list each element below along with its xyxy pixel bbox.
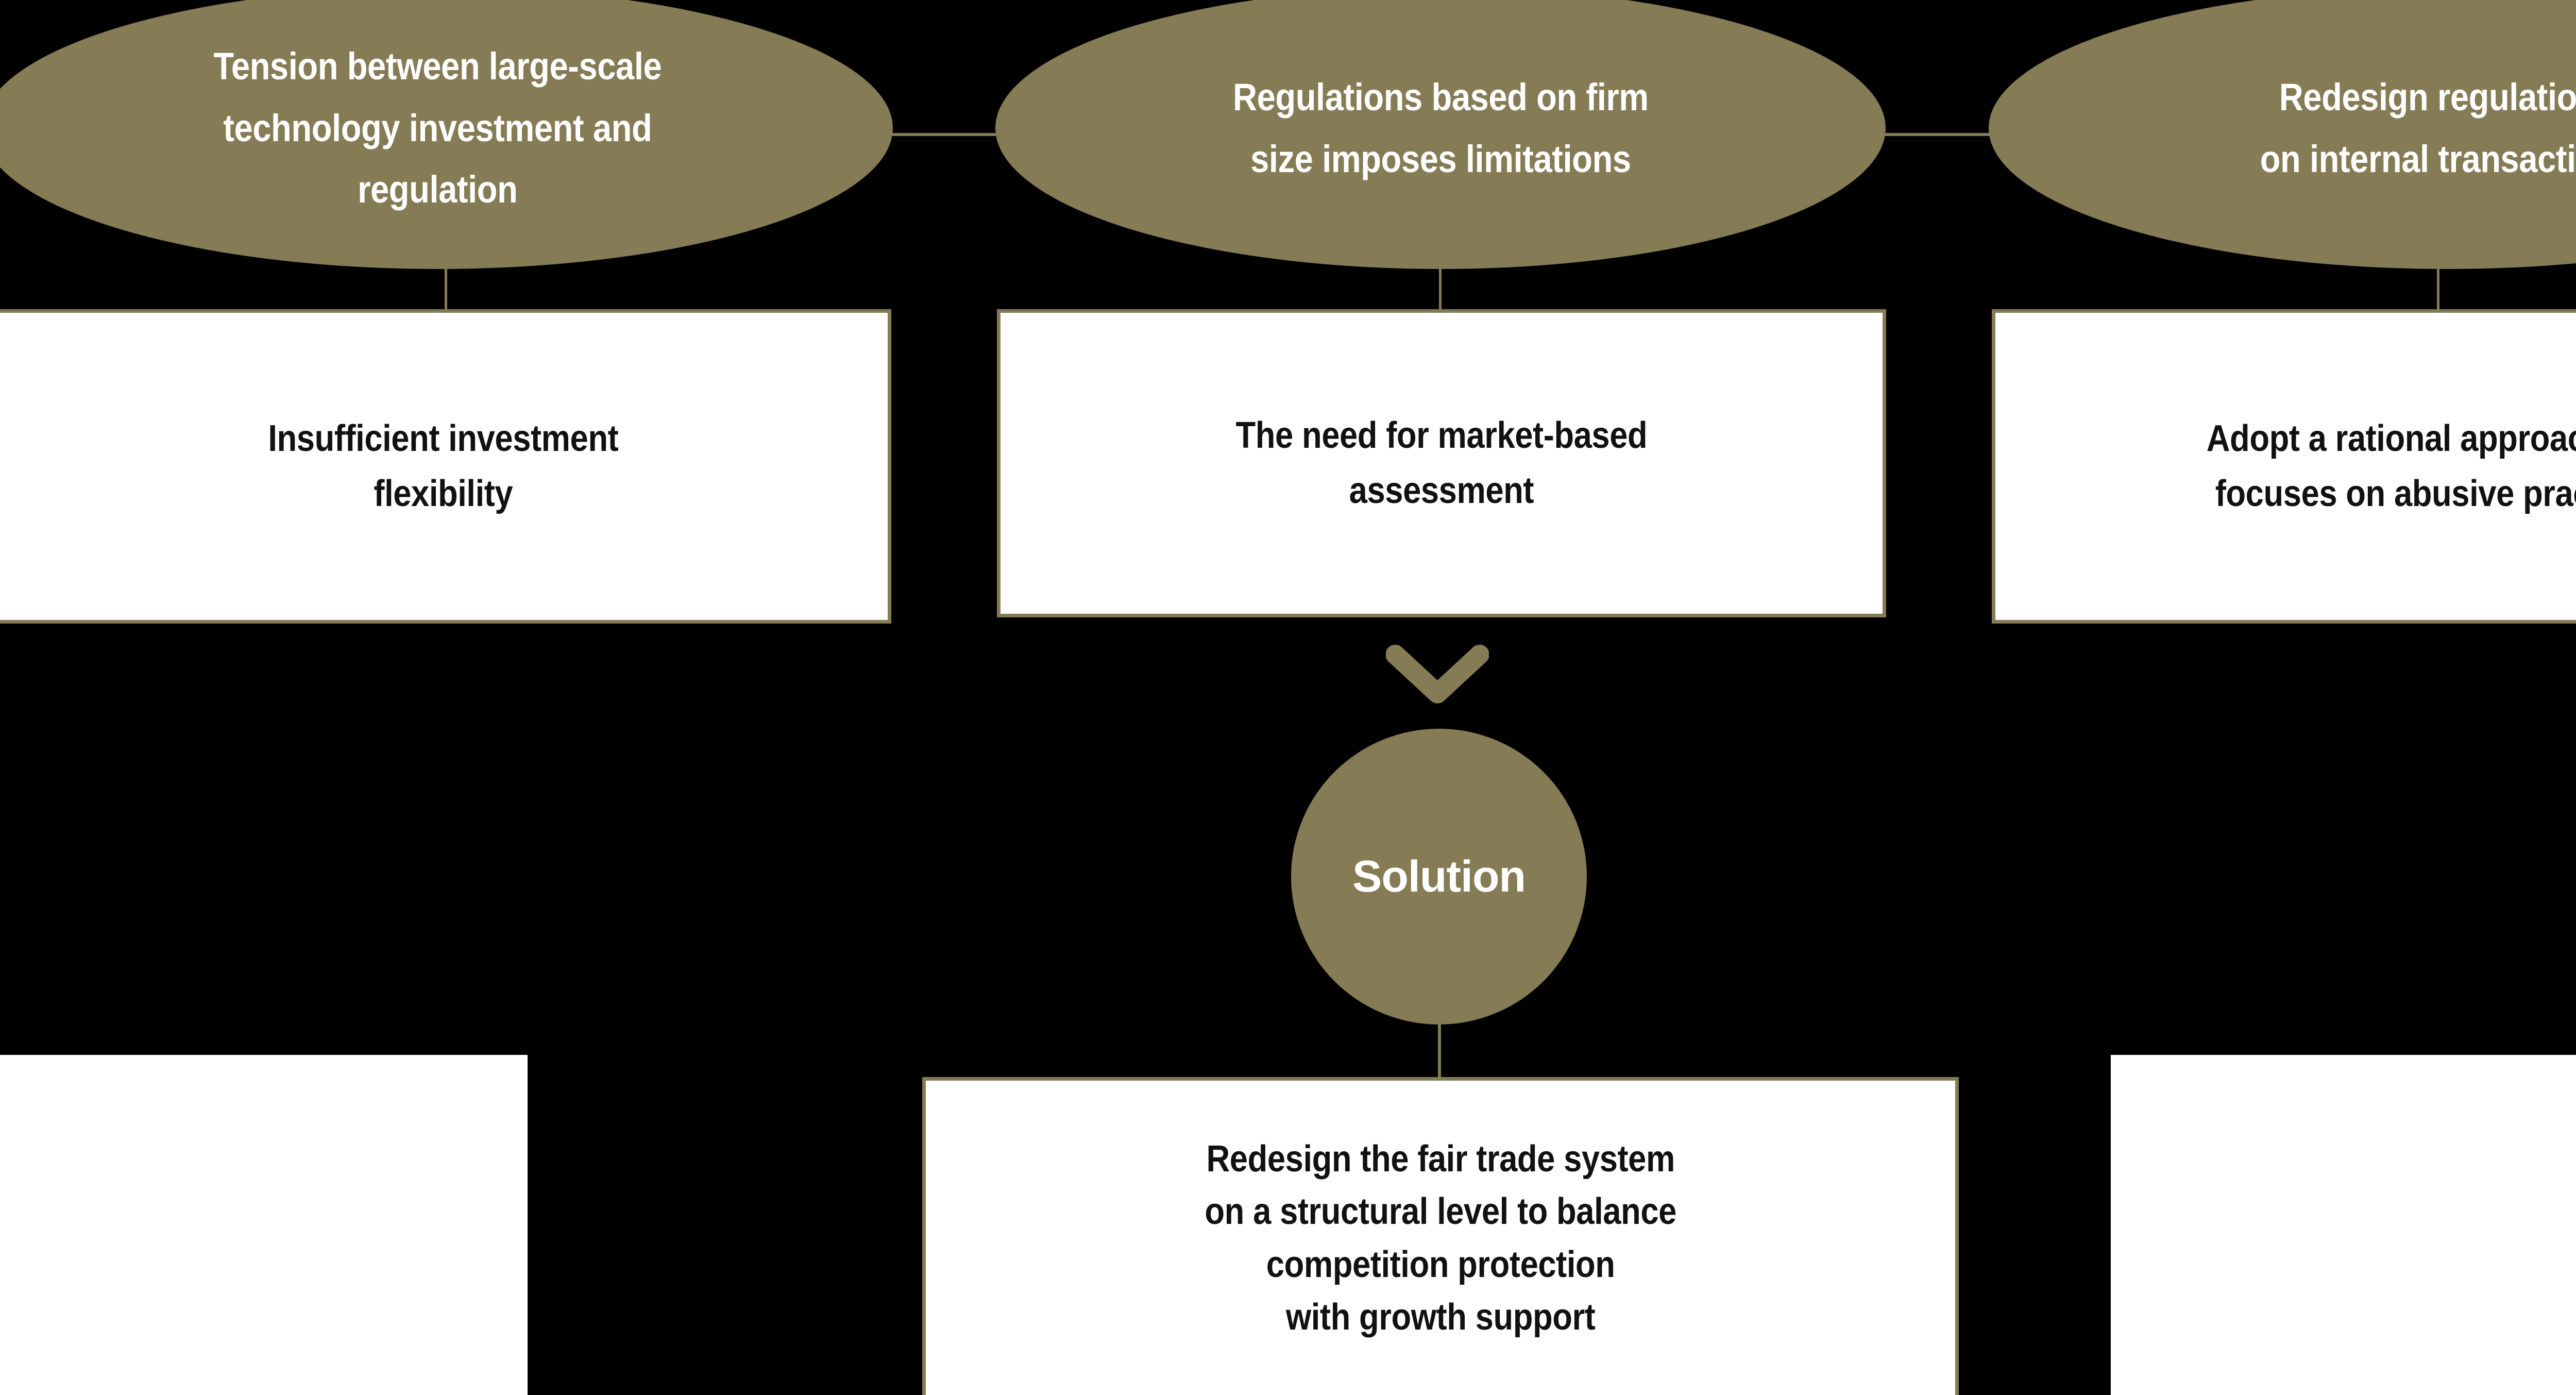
background-slab-left — [0, 1055, 528, 1395]
card-label: The need for market-based assessment — [1224, 408, 1659, 518]
node-label: Regulations based on firm size imposes l… — [1214, 66, 1666, 190]
card-label: Adopt a rational approach that focuses o… — [2195, 411, 2576, 521]
connector-pill1-card1 — [445, 268, 447, 312]
connector-pill2-card2 — [1439, 268, 1442, 312]
chevron-down-icon — [1386, 643, 1489, 705]
connector-pill3-card3 — [2437, 268, 2439, 312]
card-insufficient-investment-flexibility[interactable]: Insufficient investment flexibility — [0, 309, 891, 624]
card-redesign-fair-trade-system[interactable]: Redesign the fair trade system on a stru… — [922, 1077, 1959, 1395]
diagram-canvas: Tension between large-scale technology i… — [0, 0, 2576, 1395]
background-slab-right — [2111, 1055, 2576, 1395]
card-rational-approach-abusive-practices[interactable]: Adopt a rational approach that focuses o… — [1992, 309, 2576, 624]
solution-label: Solution — [1352, 851, 1526, 902]
card-market-based-assessment[interactable]: The need for market-based assessment — [997, 309, 1886, 617]
node-label: Redesign regulations on internal transac… — [2242, 66, 2576, 190]
card-label: Redesign the fair trade system on a stru… — [1193, 1133, 1688, 1343]
connector-pill1-pill2 — [890, 133, 998, 136]
connector-pill2-pill3 — [1883, 133, 1991, 136]
node-regulations-firm-size[interactable]: Regulations based on firm size imposes l… — [995, 0, 1886, 269]
solution-hub-circle[interactable]: Solution — [1291, 729, 1587, 1024]
node-label: Tension between large-scale technology i… — [195, 36, 680, 221]
card-label: Insufficient investment flexibility — [256, 411, 630, 521]
node-tension-technology-regulation[interactable]: Tension between large-scale technology i… — [0, 0, 893, 269]
node-redesign-internal-transactions[interactable]: Redesign regulations on internal transac… — [1989, 0, 2576, 269]
